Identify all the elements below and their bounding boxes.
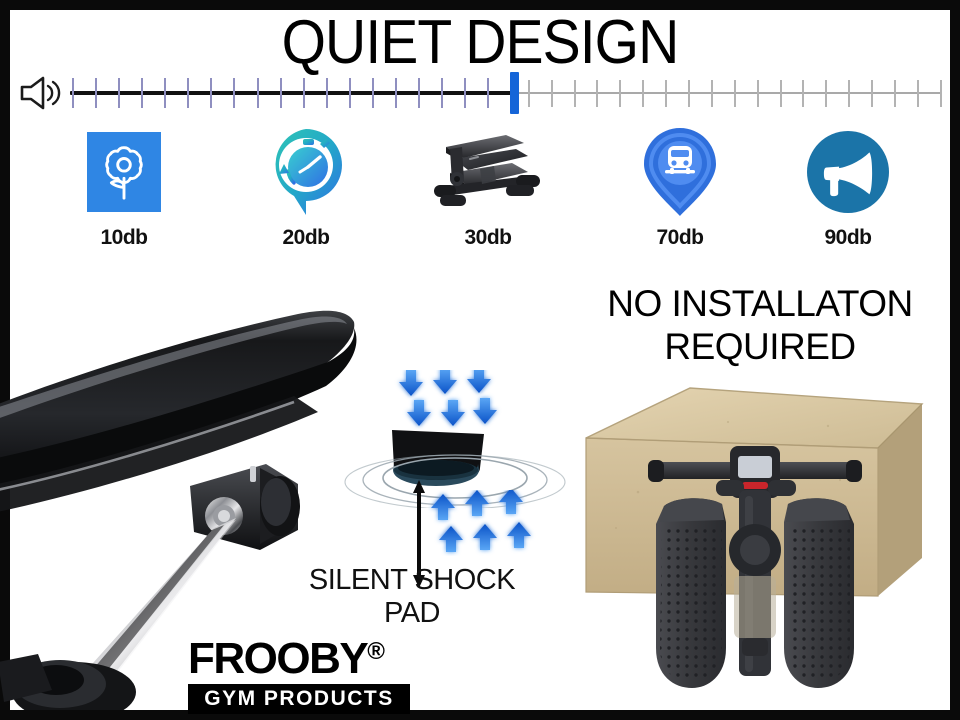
train-pin-icon bbox=[641, 126, 719, 218]
brand-logo: FROOBY® GYM PRODUCTS bbox=[188, 630, 410, 714]
noise-label-10db: 10db bbox=[54, 226, 194, 250]
packaging-group bbox=[570, 378, 950, 708]
slider-thumb[interactable] bbox=[510, 72, 519, 114]
slider-tick bbox=[940, 80, 942, 107]
noise-label-70db: 70db bbox=[610, 226, 750, 250]
slider-tick bbox=[734, 80, 736, 107]
shock-pad-caption: SILENT SHOCK PAD bbox=[278, 564, 546, 630]
flower-icon bbox=[87, 132, 161, 212]
no-installation-headline: NO INSTALLATON REQUIRED bbox=[570, 282, 950, 368]
stepper-machine-photo bbox=[424, 129, 552, 215]
slider-ticks-right bbox=[528, 72, 942, 114]
slider-tick bbox=[487, 78, 489, 108]
slider-tick bbox=[395, 78, 397, 108]
shock-pad-caption-line2: PAD bbox=[278, 597, 546, 630]
noise-label-90db: 90db bbox=[778, 226, 918, 250]
slider-tick bbox=[917, 80, 919, 107]
noise-item-30db: 30db bbox=[418, 122, 558, 250]
poster-frame: QUIET DESIGN bbox=[0, 0, 960, 720]
slider-tick bbox=[233, 78, 235, 108]
slider-tick bbox=[141, 78, 143, 108]
train-pin-icon-art bbox=[610, 122, 750, 222]
slider-tick bbox=[780, 80, 782, 107]
noise-item-20db: 20db bbox=[236, 122, 376, 250]
noise-scale-row: 10db bbox=[10, 122, 950, 262]
slider-tick bbox=[303, 78, 305, 108]
slider-tick bbox=[418, 78, 420, 108]
stepper-machine-photo-art bbox=[418, 122, 558, 222]
folded-stepper-product bbox=[630, 438, 880, 700]
page-title: QUIET DESIGN bbox=[48, 12, 913, 74]
registered-trademark-icon: ® bbox=[367, 638, 385, 665]
volume-slider[interactable] bbox=[10, 68, 950, 118]
megaphone-icon bbox=[807, 131, 889, 213]
slider-tick bbox=[596, 80, 598, 107]
noise-item-90db: 90db bbox=[778, 122, 918, 250]
slider-tick bbox=[894, 80, 896, 107]
noise-label-20db: 20db bbox=[236, 226, 376, 250]
slider-tick bbox=[280, 78, 282, 108]
brand-name: FROOBY® bbox=[188, 630, 410, 681]
flower-icon-art bbox=[54, 122, 194, 222]
brand-name-text: FROOBY bbox=[188, 634, 367, 683]
slider-tick bbox=[118, 78, 120, 108]
megaphone-icon-art bbox=[778, 122, 918, 222]
slider-tick bbox=[825, 80, 827, 107]
downward-force-arrows bbox=[392, 370, 502, 432]
upward-rebound-arrows bbox=[428, 490, 538, 556]
slider-tick bbox=[164, 78, 166, 108]
slider-tick bbox=[665, 80, 667, 107]
slider-tick bbox=[257, 78, 259, 108]
slider-tick bbox=[688, 80, 690, 107]
slider-tick bbox=[711, 80, 713, 107]
slider-tick bbox=[372, 78, 374, 108]
slider-tick bbox=[757, 80, 759, 107]
headline-line1: NO INSTALLATON bbox=[570, 282, 950, 325]
slider-tick bbox=[464, 78, 466, 108]
noise-label-30db: 30db bbox=[418, 226, 558, 250]
slider-tick bbox=[871, 80, 873, 107]
slider-tick bbox=[619, 80, 621, 107]
noise-item-70db: 70db bbox=[610, 122, 750, 250]
slider-tick bbox=[441, 78, 443, 108]
slider-tick bbox=[528, 80, 530, 107]
lower-section: SILENT SHOCK PAD FROOBY® GYM PRODUCTS NO… bbox=[10, 262, 950, 710]
slider-tick bbox=[349, 78, 351, 108]
stopwatch-pin-icon bbox=[264, 126, 348, 218]
slider-tick bbox=[642, 80, 644, 107]
slider-tick bbox=[187, 78, 189, 108]
slider-tick bbox=[326, 78, 328, 108]
slider-tick bbox=[802, 80, 804, 107]
noise-item-10db: 10db bbox=[54, 122, 194, 250]
slider-track-area[interactable] bbox=[70, 68, 942, 118]
slider-tick bbox=[848, 80, 850, 107]
shock-pad-caption-line1: SILENT SHOCK bbox=[278, 564, 546, 597]
stopwatch-pin-icon-art bbox=[236, 122, 376, 222]
headline-line2: REQUIRED bbox=[570, 325, 950, 368]
slider-tick bbox=[210, 78, 212, 108]
slider-tick bbox=[95, 78, 97, 108]
slider-tick bbox=[551, 80, 553, 107]
slider-ticks-left bbox=[72, 72, 512, 114]
brand-tagline: GYM PRODUCTS bbox=[188, 684, 410, 714]
slider-tick bbox=[72, 78, 74, 108]
speaker-volume-icon bbox=[18, 74, 64, 112]
slider-tick bbox=[574, 80, 576, 107]
